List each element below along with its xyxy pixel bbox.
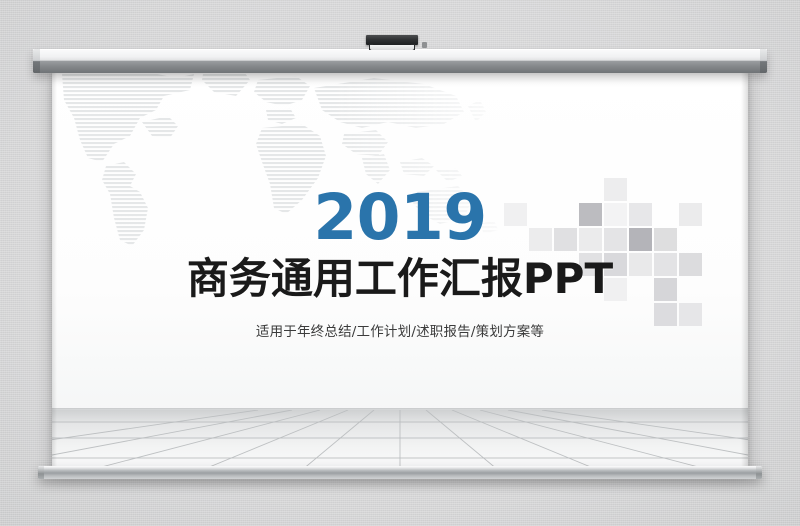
weight-bar-end-cap-right [756, 466, 762, 479]
ceiling-mount-bracket-icon [366, 35, 418, 49]
mount-stud [422, 42, 427, 48]
screen-roller-housing [33, 49, 767, 73]
weight-bar-end-cap-left [38, 466, 44, 479]
slide-text-block: 2019 商务通用工作汇报PPT 适用于年终总结/工作计划/述职报告/策划方案等 [52, 70, 748, 470]
projector-screen-assembly: 2019 商务通用工作汇报PPT 适用于年终总结/工作计划/述职报告/策划方案等 [0, 0, 800, 526]
screen-weight-bar [38, 466, 762, 479]
slide-title: 商务通用工作汇报PPT [52, 256, 748, 302]
projection-canvas: 2019 商务通用工作汇报PPT 适用于年终总结/工作计划/述职报告/策划方案等 [52, 70, 748, 470]
slide-year: 2019 [52, 186, 748, 249]
projector-screen-scene: 2019 商务通用工作汇报PPT 适用于年终总结/工作计划/述职报告/策划方案等 [0, 0, 800, 526]
roller-end-cap-right [760, 49, 767, 73]
mount-base [370, 45, 414, 50]
slide-subtitle: 适用于年终总结/工作计划/述职报告/策划方案等 [52, 323, 748, 341]
roller-end-cap-left [33, 49, 40, 73]
